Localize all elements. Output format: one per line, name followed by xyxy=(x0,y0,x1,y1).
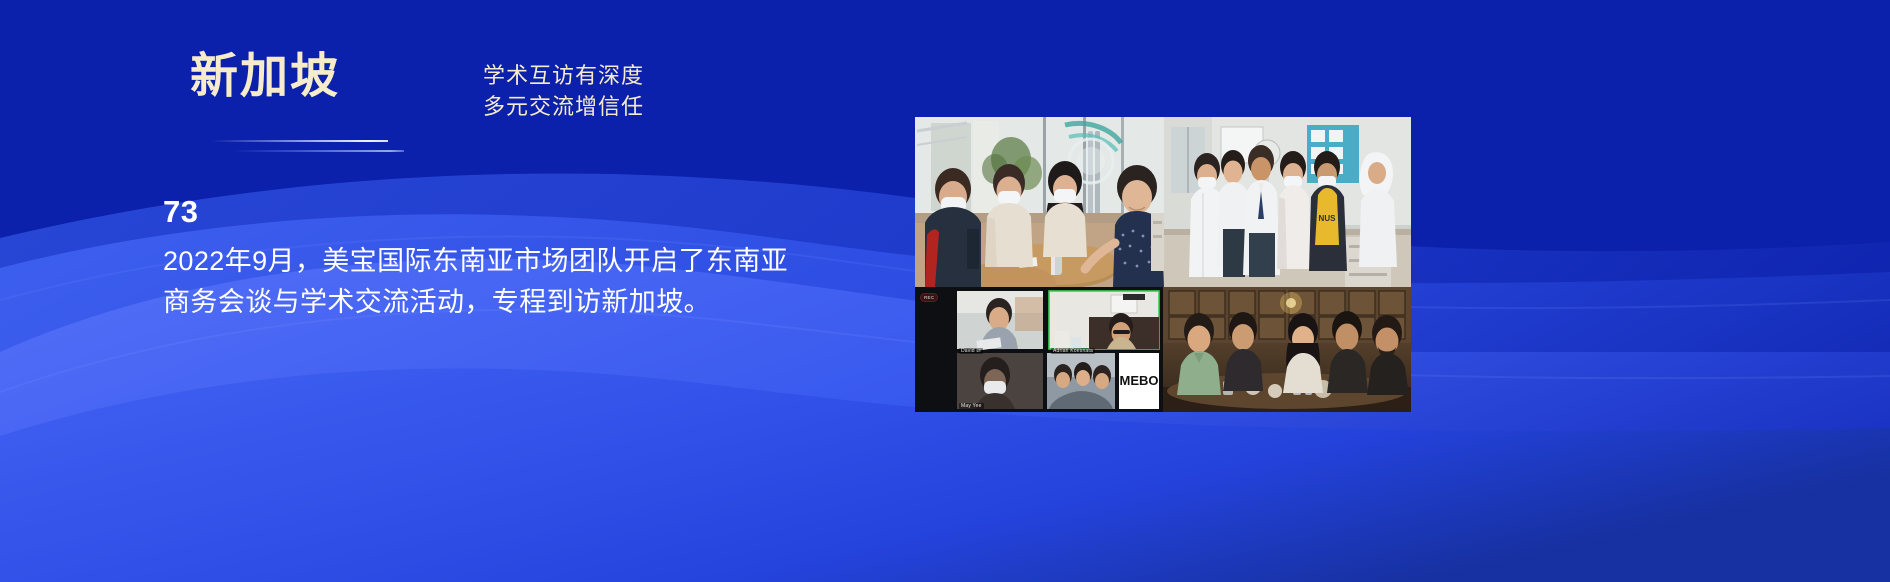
photo-dinner-group xyxy=(1163,287,1411,412)
video-tile-label-3: May Yee xyxy=(959,403,984,409)
title-block: 新加坡 xyxy=(190,52,340,102)
subtitle-line-2: 多元交流增信任 xyxy=(483,91,644,122)
svg-text:NUS: NUS xyxy=(1319,214,1337,223)
page-title: 新加坡 xyxy=(190,52,340,102)
photo-video-conference: MEBO REC David Li Adrian Koesnata May Ye… xyxy=(915,287,1163,412)
slide-root: 新加坡 学术互访有深度 多元交流增信任 73 2022年9月，美宝国际东南亚市场… xyxy=(0,0,1890,582)
video-tile-label-1: David Li xyxy=(959,348,983,354)
subtitle-block: 学术互访有深度 多元交流增信任 xyxy=(483,60,644,122)
title-underline-primary xyxy=(210,140,388,142)
collage-top-strip: NUS xyxy=(915,117,1411,287)
subtitle-line-1: 学术互访有深度 xyxy=(483,60,644,91)
stat-number: 73 xyxy=(163,196,823,227)
dinner-group-canvas xyxy=(1163,287,1411,412)
photo-cafe-and-office: NUS xyxy=(915,117,1411,287)
title-underline-secondary xyxy=(232,150,404,152)
rec-badge: REC xyxy=(920,293,938,302)
brand-tile-text: MEBO xyxy=(1120,373,1159,388)
video-conference-canvas: MEBO xyxy=(915,287,1163,412)
title-underline-group xyxy=(210,140,400,158)
video-tile-label-2: Adrian Koesnata xyxy=(1051,348,1095,354)
body-block: 73 2022年9月，美宝国际东南亚市场团队开启了东南亚商务会谈与学术交流活动，… xyxy=(163,196,823,323)
body-paragraph: 2022年9月，美宝国际东南亚市场团队开启了东南亚商务会谈与学术交流活动，专程到… xyxy=(163,241,798,323)
photo-collage: NUS xyxy=(915,117,1411,412)
left-content-column: 新加坡 学术互访有深度 多元交流增信任 73 2022年9月，美宝国际东南亚市场… xyxy=(0,0,900,582)
collage-bottom-strip: MEBO REC David Li Adrian Koesnata May Ye… xyxy=(915,287,1411,412)
